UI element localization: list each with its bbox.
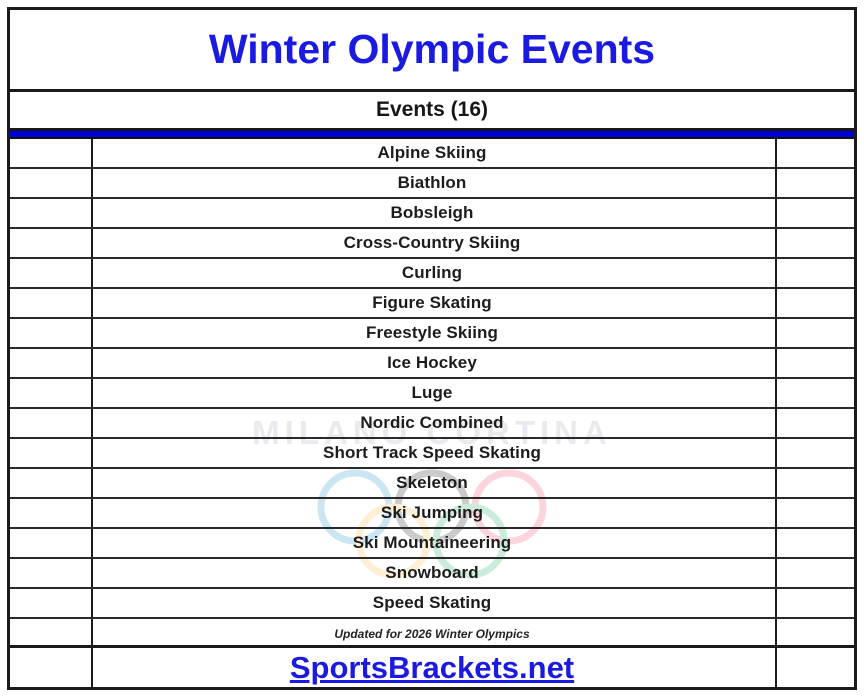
table-row: Ski Jumping bbox=[10, 499, 854, 529]
column-header-band: Events (16) bbox=[10, 92, 854, 130]
table-row: Speed Skating bbox=[10, 589, 854, 619]
table-row: Snowboard bbox=[10, 559, 854, 589]
table-row: Nordic Combined bbox=[10, 409, 854, 439]
event-name: Biathlon bbox=[398, 173, 467, 193]
table-row: Skeleton bbox=[10, 469, 854, 499]
event-name: Freestyle Skiing bbox=[366, 323, 498, 343]
event-name: Speed Skating bbox=[373, 593, 491, 613]
screenshot-root: MILANO CORTINA Winter Olympic Events bbox=[0, 0, 864, 697]
title-band: Winter Olympic Events bbox=[10, 10, 854, 92]
event-name: Bobsleigh bbox=[390, 203, 473, 223]
table-row: Alpine Skiing bbox=[10, 139, 854, 169]
table-row: Figure Skating bbox=[10, 289, 854, 319]
event-name: Skeleton bbox=[396, 473, 468, 493]
event-name: Figure Skating bbox=[372, 293, 491, 313]
sheet-content: Winter Olympic Events Events (16) Alpine… bbox=[10, 10, 854, 687]
event-name: Ice Hockey bbox=[387, 353, 477, 373]
page-title: Winter Olympic Events bbox=[209, 29, 655, 70]
updated-note-row: Updated for 2026 Winter Olympics bbox=[10, 622, 854, 648]
table-row: Bobsleigh bbox=[10, 199, 854, 229]
event-name: Nordic Combined bbox=[360, 413, 503, 433]
table-row: Ice Hockey bbox=[10, 349, 854, 379]
events-list: Alpine SkiingBiathlonBobsleighCross-Coun… bbox=[10, 139, 854, 622]
event-name: Alpine Skiing bbox=[378, 143, 487, 163]
brand-row: SportsBrackets.net bbox=[10, 648, 854, 687]
event-name: Ski Mountaineering bbox=[353, 533, 512, 553]
event-name: Snowboard bbox=[385, 563, 478, 583]
updated-note: Updated for 2026 Winter Olympics bbox=[334, 627, 529, 641]
table-row: Curling bbox=[10, 259, 854, 289]
event-name: Luge bbox=[411, 383, 452, 403]
event-name: Ski Jumping bbox=[381, 503, 483, 523]
event-name: Cross-Country Skiing bbox=[344, 233, 521, 253]
events-sheet: MILANO CORTINA Winter Olympic Events bbox=[7, 7, 857, 690]
table-row: Freestyle Skiing bbox=[10, 319, 854, 349]
table-row: Cross-Country Skiing bbox=[10, 229, 854, 259]
event-name: Short Track Speed Skating bbox=[323, 443, 541, 463]
event-name: Curling bbox=[402, 263, 462, 283]
events-column-header: Events (16) bbox=[376, 98, 488, 122]
table-row: Luge bbox=[10, 379, 854, 409]
table-row: Ski Mountaineering bbox=[10, 529, 854, 559]
sportsbrackets-link[interactable]: SportsBrackets.net bbox=[290, 650, 574, 686]
table-row: Biathlon bbox=[10, 169, 854, 199]
blue-accent-bar bbox=[10, 130, 854, 139]
table-row: Short Track Speed Skating bbox=[10, 439, 854, 469]
